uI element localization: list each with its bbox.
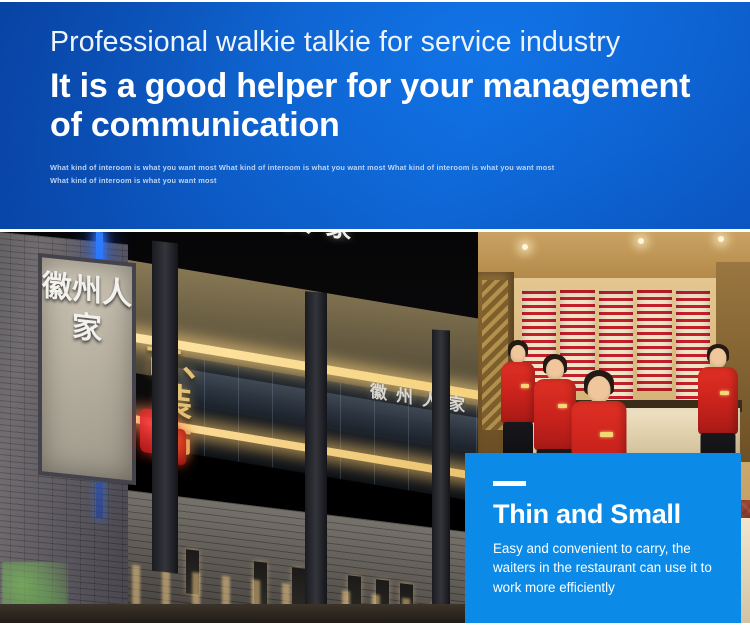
promo-banner-page: Professional walkie talkie for service i… — [0, 0, 750, 639]
ground-paving — [0, 604, 478, 623]
head — [588, 376, 611, 403]
ceiling-light — [522, 244, 528, 250]
hero-subcopy-line-2: What kind of interoom is what you want m… — [50, 174, 610, 188]
hero-header: Professional walkie talkie for service i… — [0, 2, 750, 229]
facade-column — [152, 241, 178, 574]
head — [546, 359, 564, 380]
red-uniform-jacket — [698, 367, 738, 435]
ceiling-light — [638, 238, 644, 244]
ceiling-light — [718, 236, 724, 242]
callout-card: Thin and Small Easy and convenient to ca… — [465, 453, 741, 623]
accent-dash — [493, 481, 526, 486]
facade-column — [305, 291, 327, 623]
wall-panel — [637, 290, 671, 391]
hero-content: Professional walkie talkie for service i… — [0, 2, 750, 188]
photo-restaurant-exterior: 徽州人家 徽州人家 徽州人家 古、装饰 — [0, 232, 478, 623]
signboard-characters: 徽州人家 — [42, 267, 132, 353]
name-badge — [720, 391, 729, 395]
head — [511, 345, 526, 363]
hero-kicker: Professional walkie talkie for service i… — [50, 26, 714, 60]
hero-subcopy: What kind of interoom is what you want m… — [50, 161, 610, 188]
hero-subcopy-line-1: What kind of interoom is what you want m… — [50, 161, 610, 175]
hero-headline: It is a good helper for your management … — [50, 67, 714, 146]
ceiling — [478, 232, 750, 284]
head — [710, 348, 727, 368]
callout-title: Thin and Small — [493, 500, 719, 530]
name-badge — [600, 432, 613, 437]
facade-column — [432, 330, 450, 623]
callout-body-text: Easy and convenient to carry, the waiter… — [493, 539, 719, 598]
vertical-signboard: 徽州人家 — [38, 253, 136, 485]
